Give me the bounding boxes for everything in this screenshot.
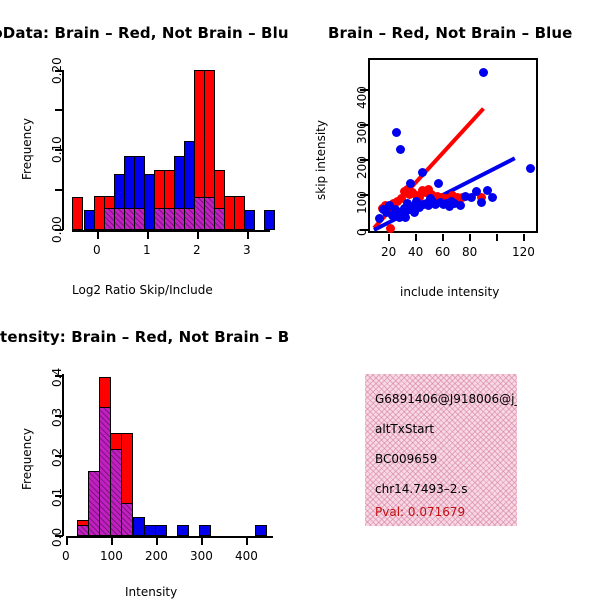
x-tick-label: 400 <box>235 549 258 563</box>
bar-blue <box>199 525 211 536</box>
data-point-blue <box>456 201 465 210</box>
histogram-ratio-bars <box>70 70 270 230</box>
x-tick <box>197 232 199 239</box>
data-point-blue <box>472 187 481 196</box>
data-point-blue <box>401 213 410 222</box>
annotation-info-box: G6891406@J918006@j_ altTxStart BC009659 … <box>365 374 517 526</box>
x-tick <box>246 538 248 545</box>
x-tick <box>388 234 390 241</box>
y-tick-label: 0.1 <box>50 488 64 507</box>
x-tick-label: 3 <box>243 243 251 257</box>
x-tick-label: 0 <box>93 243 101 257</box>
data-point-blue <box>418 168 427 177</box>
histogram-ratio-x-axis <box>72 230 270 232</box>
bar-overlap <box>121 503 133 536</box>
bar-overlap <box>134 208 145 230</box>
x-tick <box>247 232 249 239</box>
scatter-ylabel: skip intensity <box>314 120 328 200</box>
y-tick <box>55 109 63 111</box>
bar-blue <box>255 525 267 536</box>
y-tick-label: 0.10 <box>50 136 64 163</box>
x-tick <box>523 234 525 241</box>
data-point-blue <box>526 164 535 173</box>
y-tick-label: 400 <box>355 86 369 109</box>
bar-red <box>72 197 83 230</box>
scatter-plot-area <box>368 58 538 233</box>
x-tick-label: 2 <box>193 243 201 257</box>
data-point-blue <box>406 179 415 188</box>
info-line-event-type: altTxStart <box>375 422 434 436</box>
x-tick-label: 20 <box>381 245 396 259</box>
x-tick-label: 1 <box>143 243 151 257</box>
y-tick-label: 0.3 <box>50 408 64 427</box>
bar-overlap <box>214 208 225 230</box>
scatter-title: Brain – Red, Not Brain – Blue <box>328 24 572 42</box>
data-point-blue <box>477 198 486 207</box>
y-tick-label: 0.2 <box>50 448 64 467</box>
info-line-accession: BC009659 <box>375 452 437 466</box>
x-tick-label: 40 <box>408 245 423 259</box>
x-tick <box>66 538 68 545</box>
bar-blue <box>84 210 95 230</box>
x-tick <box>469 234 471 241</box>
x-tick <box>415 234 417 241</box>
bar-blue <box>244 210 255 230</box>
data-point-blue <box>392 128 401 137</box>
bar-blue <box>264 210 275 230</box>
y-tick-label: 0 <box>355 228 369 236</box>
data-point-blue <box>396 145 405 154</box>
y-tick-label: 0.4 <box>50 368 64 387</box>
info-line-locus: chr14.7493–2.s <box>375 482 467 496</box>
x-tick-label: 120 <box>512 245 535 259</box>
x-tick <box>201 538 203 545</box>
x-tick-label: 60 <box>435 245 450 259</box>
histogram-intensity-xlabel: Intensity <box>125 585 177 599</box>
histogram-intensity-title: ne Itensity: Brain – Red, Not Brain – B <box>0 328 289 346</box>
info-line-gene-id: G6891406@J918006@j_ <box>375 392 517 406</box>
bar-blue <box>177 525 189 536</box>
y-tick <box>55 189 63 191</box>
data-point-blue <box>479 68 488 77</box>
info-line-pval: Pval: 0.071679 <box>375 505 465 519</box>
y-tick-label: 0.20 <box>50 57 64 84</box>
x-tick <box>147 232 149 239</box>
bar-blue <box>155 525 167 536</box>
x-tick <box>442 234 444 241</box>
x-tick-label: 200 <box>145 549 168 563</box>
y-tick-label: 300 <box>355 121 369 144</box>
x-tick-label: 0 <box>62 549 70 563</box>
x-tick <box>496 234 498 241</box>
data-point-blue <box>434 179 443 188</box>
x-tick-label: 80 <box>462 245 477 259</box>
histogram-ratio-ylabel: Frequency <box>20 118 34 180</box>
histogram-ratio-xlabel: Log2 Ratio Skip/Include <box>72 283 213 297</box>
histogram-intensity-bars <box>66 375 273 536</box>
y-tick-label: 0.00 <box>50 216 64 243</box>
y-tick-label: 200 <box>355 156 369 179</box>
x-tick <box>111 538 113 545</box>
histogram-ratio-panel: RatioData: Brain – Red, Not Brain – Blu … <box>0 0 300 310</box>
x-tick <box>97 232 99 239</box>
data-point-red <box>386 224 395 233</box>
x-tick <box>156 538 158 545</box>
data-point-blue <box>488 193 497 202</box>
scatter-panel: Brain – Red, Not Brain – Blue skip inten… <box>300 0 600 310</box>
histogram-ratio-title: RatioData: Brain – Red, Not Brain – Blu <box>0 24 289 42</box>
y-tick-label: 0.0 <box>50 528 64 547</box>
x-tick-label: 100 <box>100 549 123 563</box>
scatter-xlabel: include intensity <box>400 285 499 299</box>
x-tick-label: 300 <box>190 549 213 563</box>
histogram-intensity-ylabel: Frequency <box>20 428 34 490</box>
histogram-intensity-panel: ne Itensity: Brain – Red, Not Brain – B … <box>0 310 300 600</box>
histogram-intensity-x-axis <box>66 536 273 538</box>
y-tick-label: 100 <box>355 191 369 214</box>
